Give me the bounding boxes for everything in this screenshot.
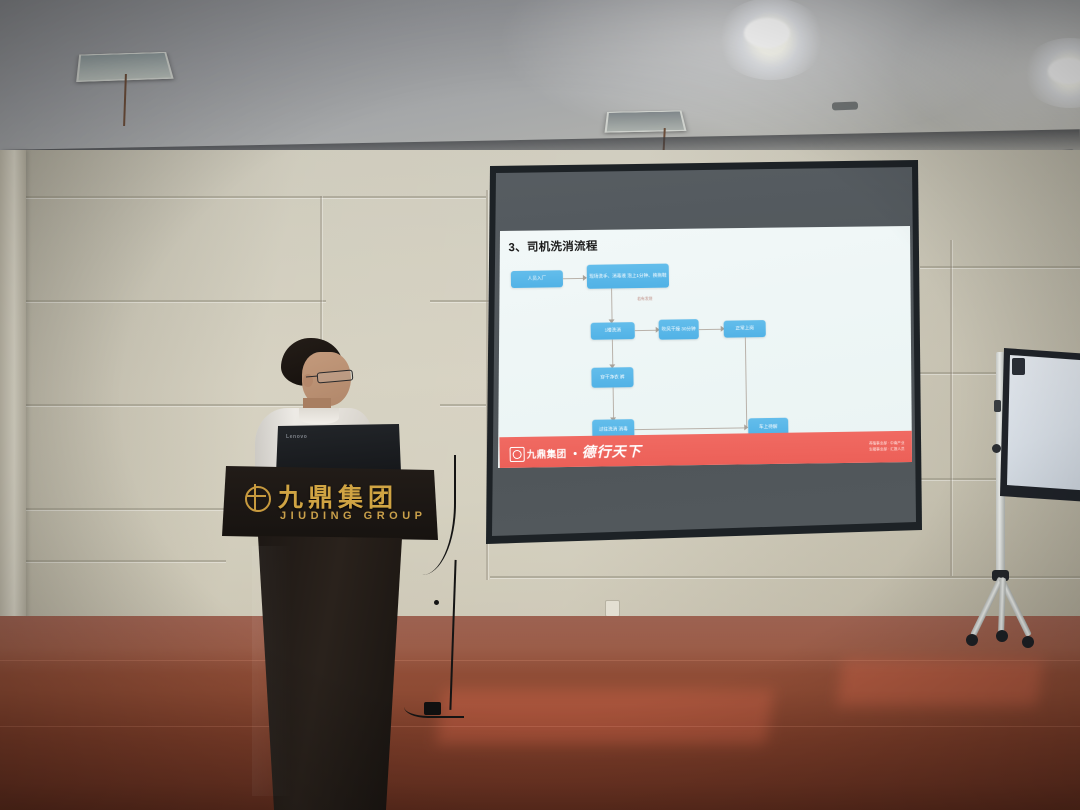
flow-box-uniform: 穿干净衣 裤 xyxy=(591,367,633,388)
wall-panel-divider xyxy=(950,240,952,576)
connector xyxy=(635,330,658,331)
wall-seam xyxy=(920,266,1080,268)
flow-box-shower: 1楼洗消 xyxy=(591,322,635,340)
podium-highlight xyxy=(252,546,292,796)
floor-seam xyxy=(0,660,1080,661)
footer-slogan: 德行天下 xyxy=(581,441,641,462)
wall-seam xyxy=(26,196,486,198)
whiteboard-clip-icon xyxy=(1012,358,1025,375)
flow-box-dry: 吹风干燥 30分钟 xyxy=(659,319,699,340)
caster-wheel-icon xyxy=(1022,636,1034,648)
laptop-brand-label: Lenovo xyxy=(286,434,307,440)
ceiling-vent-icon xyxy=(605,110,687,132)
downlight-core xyxy=(744,18,790,48)
cable-plug xyxy=(424,702,441,715)
footer-separator-dot xyxy=(574,452,577,455)
floor-reflection xyxy=(837,660,1043,706)
footer-meta: 养殖事业部 · 中南产业 生猪事业部 · 汇报人员 xyxy=(869,440,905,453)
projected-slide: 3、司机洗消流程 人员入厂 现场洗手、消毒液 泡上1分钟、换拖鞋 若有发烧 1楼… xyxy=(498,226,912,468)
flow-box-wash-hands: 现场洗手、消毒液 泡上1分钟、换拖鞋 xyxy=(587,264,669,289)
projection-screen: 3、司机洗消流程 人员入厂 现场洗手、消毒液 泡上1分钟、换拖鞋 若有发烧 1楼… xyxy=(480,160,922,544)
caster-wheel-icon xyxy=(996,630,1008,642)
floor-reflection xyxy=(436,690,774,744)
connector xyxy=(699,329,723,330)
connector xyxy=(613,387,615,419)
wall-outlet-icon xyxy=(605,600,620,617)
wall-baseboard xyxy=(26,560,226,562)
jiuding-emblem-icon xyxy=(242,482,270,512)
flow-box-entry: 人员入厂 xyxy=(511,270,563,288)
whiteboard-surface xyxy=(1007,355,1080,495)
connector xyxy=(611,288,613,321)
slide-title: 3、司机洗消流程 xyxy=(508,238,598,255)
wall-seam xyxy=(26,300,326,302)
presenter-collar xyxy=(299,408,339,424)
slide-footer-banner: 九鼎集团 德行天下 养殖事业部 · 中南产业 生猪事业部 · 汇报人员 xyxy=(499,431,912,468)
floor-seam xyxy=(0,726,1080,727)
footer-meta-line2: 生猪事业部 · 汇报人员 xyxy=(869,446,905,453)
jiuding-logo-icon xyxy=(510,447,525,462)
podium-brand-cn: 九鼎集团 xyxy=(278,478,398,514)
caster-wheel-icon xyxy=(966,634,978,646)
footer-logo-text: 九鼎集团 xyxy=(527,446,567,461)
downlight-core xyxy=(1048,58,1080,84)
presentation-room-photo: 3、司机洗消流程 人员入厂 现场洗手、消毒液 泡上1分钟、换拖鞋 若有发烧 1楼… xyxy=(0,0,1080,810)
whiteboard xyxy=(1000,348,1080,508)
connector xyxy=(745,337,747,427)
ceiling-fixture-icon xyxy=(832,102,858,111)
wall-pillar xyxy=(0,150,26,620)
cable-clip xyxy=(434,600,439,605)
connector xyxy=(563,278,585,279)
slide-note-top: 若有发烧 xyxy=(637,297,652,302)
connector xyxy=(634,427,746,430)
flow-box-change: 正常上岗 xyxy=(724,320,766,338)
connector xyxy=(612,339,613,366)
